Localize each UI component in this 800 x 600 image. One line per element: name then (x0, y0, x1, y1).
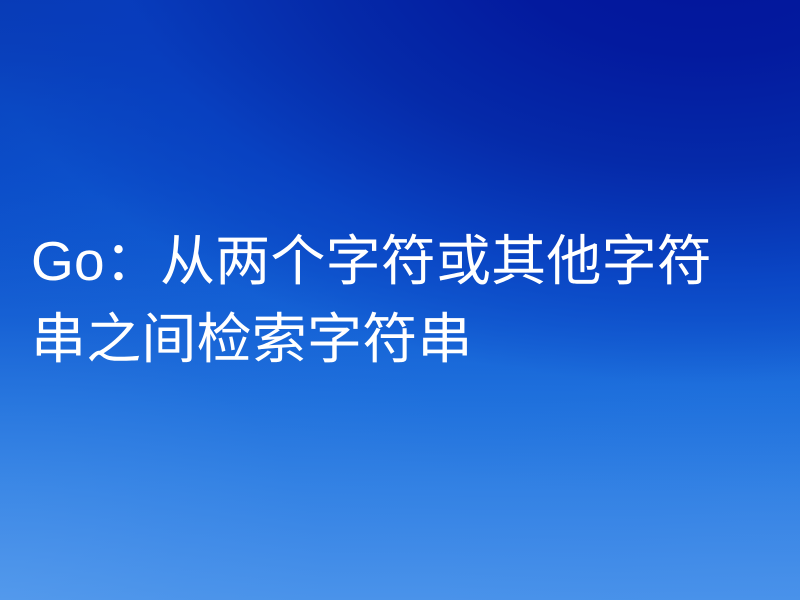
article-title-card: Go：从两个字符或其他字符 串之间检索字符串 (0, 0, 800, 600)
page-title: Go：从两个字符或其他字符 串之间检索字符串 (31, 222, 712, 378)
headline-container: Go：从两个字符或其他字符 串之间检索字符串 (0, 0, 800, 600)
